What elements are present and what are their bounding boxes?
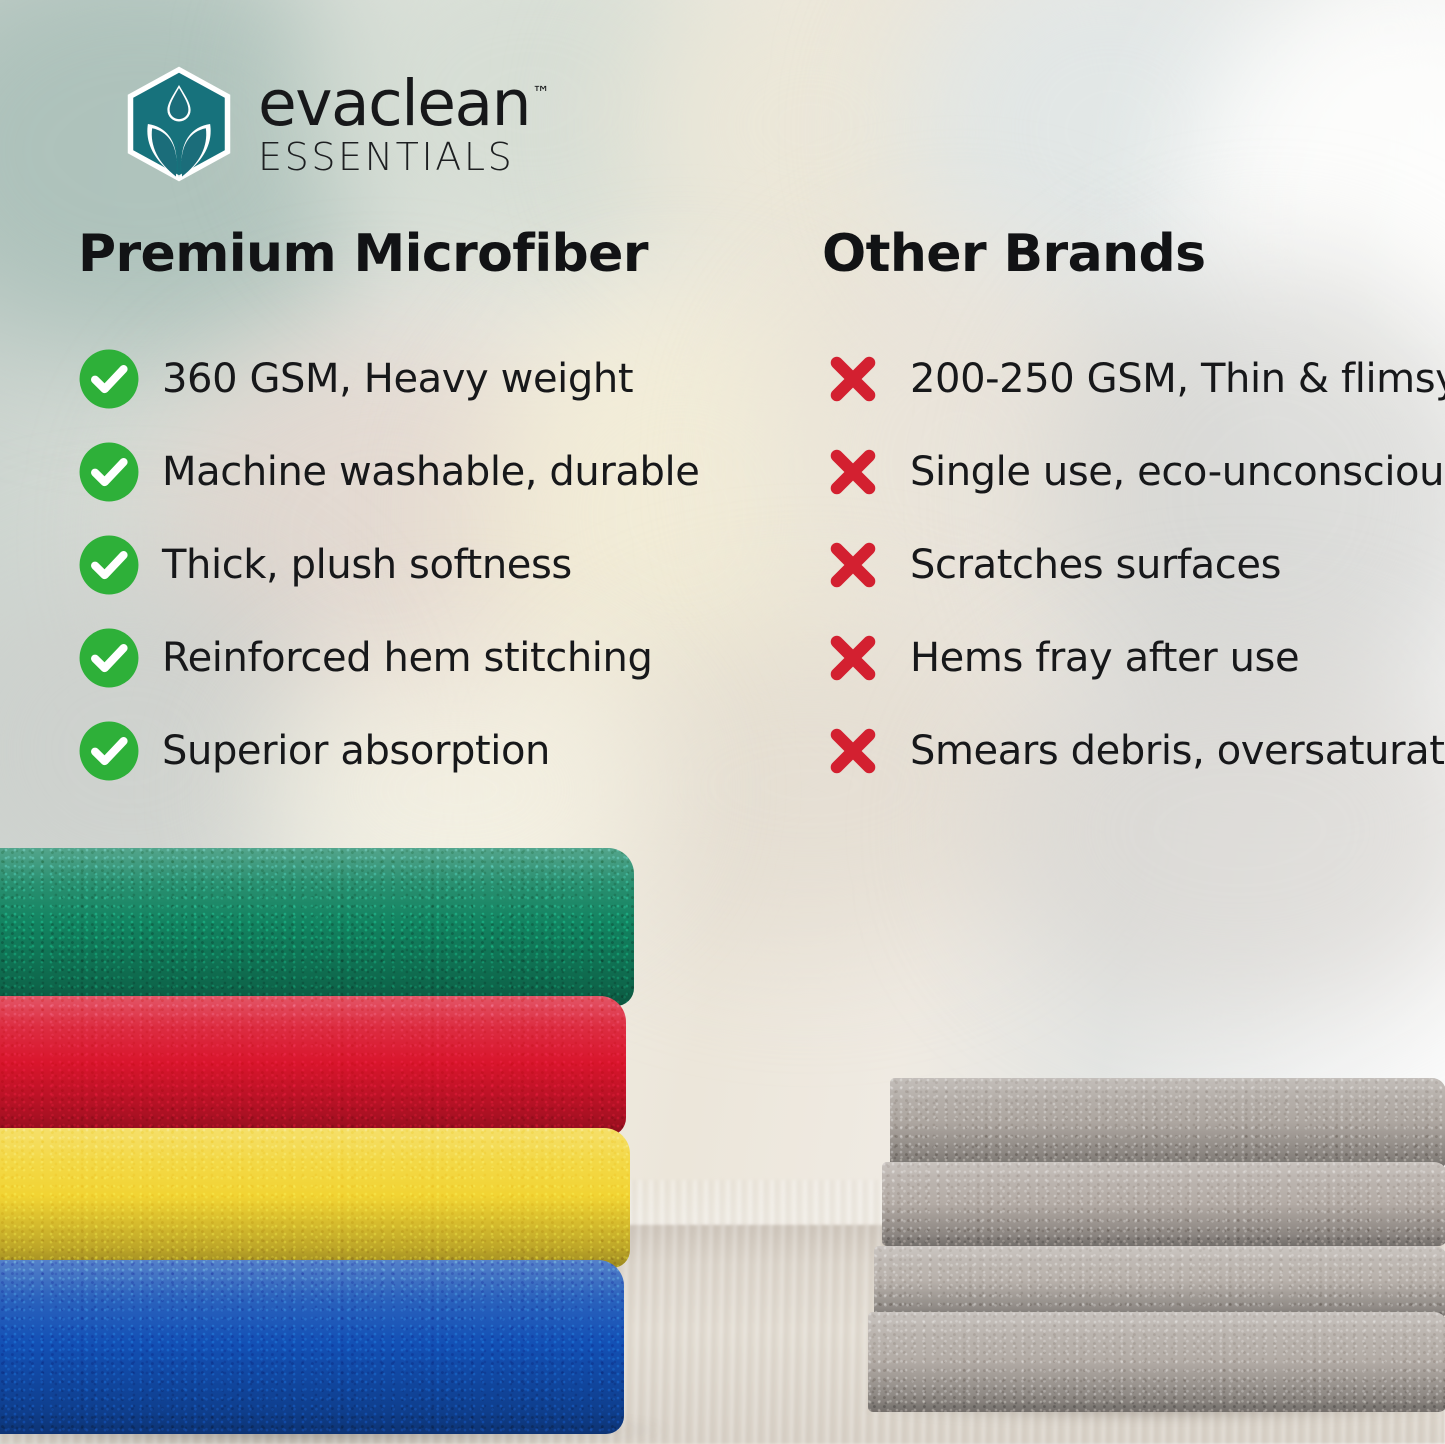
- check-circle-icon: [78, 627, 140, 689]
- towel-blue: [0, 1260, 624, 1434]
- brand-name: evaclean: [258, 74, 530, 134]
- list-item: Reinforced hem stitching: [78, 611, 758, 704]
- other-brands-column-heading: Other Brands: [822, 228, 1422, 280]
- towel-gray: [890, 1078, 1445, 1170]
- feature-label: 200-250 GSM, Thin & flimsy: [910, 359, 1445, 399]
- towel-green: [0, 848, 634, 1006]
- feature-label: Smears debris, oversaturates: [910, 731, 1445, 771]
- other-brand-gray-towel-stack: [868, 1078, 1445, 1412]
- other-brands-feature-list: 200-250 GSM, Thin & flimsy Single use, e…: [822, 332, 1422, 797]
- towel-gray: [874, 1246, 1445, 1318]
- product-comparison-infographic: evaclean™ ESSENTIALS Premium Microfiber …: [0, 0, 1445, 1444]
- towel-gray: [882, 1162, 1445, 1246]
- feature-label: Superior absorption: [162, 731, 550, 771]
- feature-label: Single use, eco-unconscious: [910, 452, 1445, 492]
- feature-label: Hems fray after use: [910, 638, 1299, 678]
- cross-x-icon: [826, 631, 880, 685]
- other-brands-column: Other Brands 200-250 GSM, Thin & flimsy …: [822, 228, 1422, 797]
- premium-microfiber-column: Premium Microfiber 360 GSM, Heavy weight…: [78, 228, 758, 797]
- brand-logo: evaclean™ ESSENTIALS: [118, 62, 548, 186]
- check-circle-icon: [78, 441, 140, 503]
- cross-x-icon: [826, 538, 880, 592]
- brand-tagline: ESSENTIALS: [258, 138, 548, 176]
- list-item: Hems fray after use: [822, 611, 1422, 704]
- list-item: Thick, plush softness: [78, 518, 758, 611]
- brand-wordmark: evaclean™ ESSENTIALS: [258, 72, 548, 176]
- premium-feature-list: 360 GSM, Heavy weight Machine washable, …: [78, 332, 758, 797]
- list-item: 360 GSM, Heavy weight: [78, 332, 758, 425]
- feature-label: Machine washable, durable: [162, 452, 699, 492]
- list-item: Single use, eco-unconscious: [822, 425, 1422, 518]
- list-item: 200-250 GSM, Thin & flimsy: [822, 332, 1422, 425]
- trademark-symbol: ™: [532, 83, 550, 104]
- towel-red: [0, 996, 626, 1136]
- feature-label: Reinforced hem stitching: [162, 638, 652, 678]
- towel-gray: [868, 1312, 1445, 1412]
- premium-column-heading: Premium Microfiber: [78, 228, 758, 280]
- list-item: Smears debris, oversaturates: [822, 704, 1422, 797]
- cross-x-icon: [826, 352, 880, 406]
- feature-label: Scratches surfaces: [910, 545, 1281, 585]
- cross-x-icon: [826, 445, 880, 499]
- list-item: Superior absorption: [78, 704, 758, 797]
- check-circle-icon: [78, 534, 140, 596]
- list-item: Scratches surfaces: [822, 518, 1422, 611]
- premium-microfiber-towel-stack: [0, 848, 646, 1444]
- list-item: Machine washable, durable: [78, 425, 758, 518]
- check-circle-icon: [78, 348, 140, 410]
- cross-x-icon: [826, 724, 880, 778]
- evaclean-hexagon-leaf-droplet-logo: [118, 62, 240, 186]
- feature-label: 360 GSM, Heavy weight: [162, 359, 633, 399]
- towel-yellow: [0, 1128, 630, 1268]
- check-circle-icon: [78, 720, 140, 782]
- feature-label: Thick, plush softness: [162, 545, 572, 585]
